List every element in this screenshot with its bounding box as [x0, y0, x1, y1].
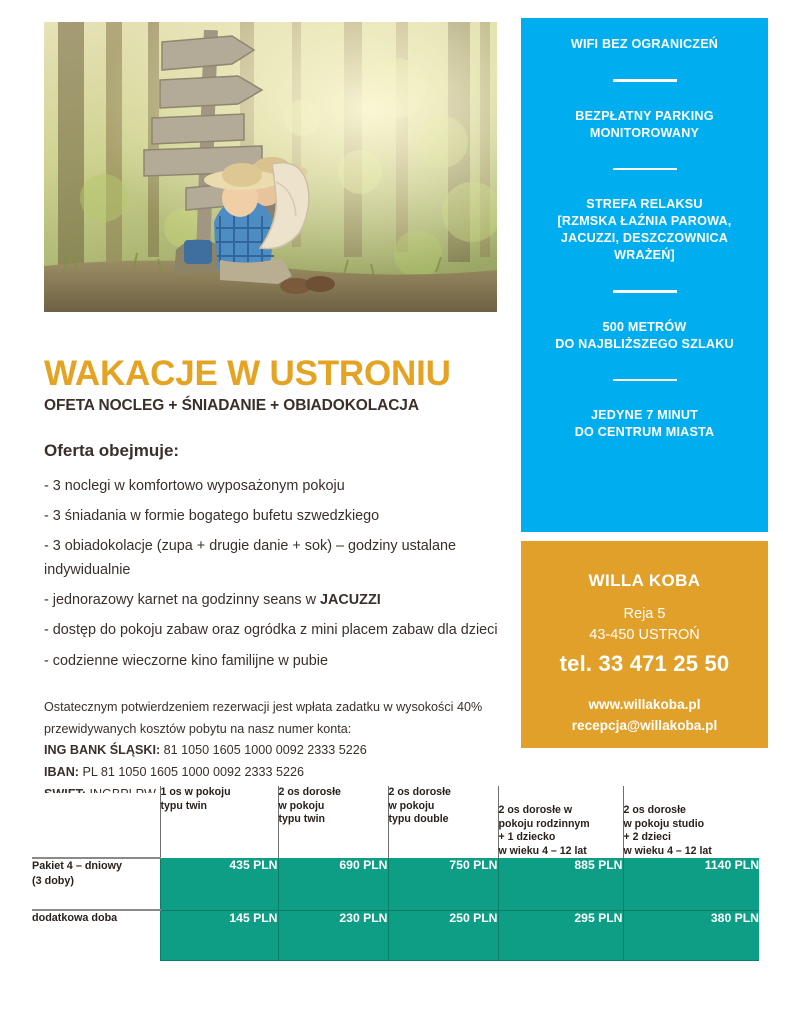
amenity-divider — [613, 79, 677, 82]
includes-heading: Oferta obejmuje: — [44, 441, 514, 461]
price-cell: 380 PLN — [623, 910, 759, 960]
amenity-divider — [613, 290, 677, 293]
column-header-twin-single: 1 os w pokoju typu twin — [160, 786, 278, 858]
page-subtitle: OFETA NOCLEG + ŚNIADANIE + OBIADOKOLACJA — [44, 397, 514, 415]
iban-label: IBAN: — [44, 765, 79, 779]
email-link[interactable]: recepcja@willakoba.pl — [521, 716, 768, 736]
amenity-trail: 500 METRÓW DO NAJBLIŻSZEGO SZLAKU — [531, 319, 758, 353]
bank-label: ING BANK ŚLĄSKI: — [44, 743, 160, 757]
table-row: dodatkowa doba 145 PLN 230 PLN 250 PLN 2… — [32, 910, 759, 960]
payment-line: przewidywanych kosztów pobytu na nasz nu… — [44, 719, 514, 741]
price-cell: 690 PLN — [278, 858, 388, 910]
price-cell: 230 PLN — [278, 910, 388, 960]
column-header-family: 2 os dorosłe w pokoju rodzinnym + 1 dzie… — [498, 786, 623, 858]
payment-details: Ostatecznym potwierdzeniem rezerwacji je… — [44, 697, 514, 793]
price-cell: 750 PLN — [388, 858, 498, 910]
website-link[interactable]: www.willakoba.pl — [521, 695, 768, 715]
price-cell: 250 PLN — [388, 910, 498, 960]
hotel-address: Reja 5 43-450 USTROŃ — [521, 604, 768, 645]
amenity-center: JEDYNE 7 MINUT DO CENTRUM MIASTA — [531, 407, 758, 441]
offer-bullet: - codzienne wieczorne kino familijne w p… — [44, 650, 514, 673]
column-header-double: 2 os dorosłe w pokoju typu double — [388, 786, 498, 858]
amenities-panel: WIFI BEZ OGRANICZEŃ BEZPŁATNY PARKING MO… — [521, 18, 768, 532]
table-corner-cell — [32, 786, 160, 858]
price-cell: 295 PLN — [498, 910, 623, 960]
offer-bullet: - 3 śniadania w formie bogatego bufetu s… — [44, 505, 514, 528]
row-label-extra-night: dodatkowa doba — [32, 910, 160, 960]
page-title: WAKACJE W USTRONIU — [44, 355, 514, 393]
amenity-divider — [613, 379, 677, 382]
forest-children-illustration — [44, 22, 497, 312]
payment-line: Ostatecznym potwierdzeniem rezerwacji je… — [44, 697, 514, 719]
amenity-parking: BEZPŁATNY PARKING MONITOROWANY — [531, 108, 758, 142]
amenity-spa: STREFA RELAKSU [RZMSKA ŁAŹNIA PAROWA, JA… — [531, 196, 758, 264]
hero-photo — [44, 22, 497, 312]
offer-bullet: - dostęp do pokoju zabaw oraz ogródka z … — [44, 619, 514, 642]
jacuzzi-bullet-text: - jednorazowy karnet na godzinny seans w — [44, 592, 320, 608]
contact-panel: WILLA KOBA Reja 5 43-450 USTROŃ tel. 33 … — [521, 541, 768, 748]
offer-bullet: - 3 obiadokolacje (zupa + drugie danie +… — [44, 535, 514, 582]
offer-content: WAKACJE W USTRONIU OFETA NOCLEG + ŚNIADA… — [44, 355, 514, 793]
iban-number: PL 81 1050 1605 1000 0092 2333 5226 — [82, 765, 304, 779]
amenity-wifi: WIFI BEZ OGRANICZEŃ — [531, 36, 758, 53]
amenity-divider — [613, 168, 677, 171]
table-header-row: 1 os w pokoju typu twin 2 os dorosłe w p… — [32, 786, 759, 858]
offer-bullet-jacuzzi: - jednorazowy karnet na godzinny seans w… — [44, 589, 514, 612]
offer-bullet: - 3 noclegi w komfortowo wyposażonym pok… — [44, 475, 514, 498]
address-city: 43-450 USTROŃ — [521, 625, 768, 646]
hotel-name: WILLA KOBA — [521, 571, 768, 591]
jacuzzi-keyword: JACUZZI — [320, 592, 381, 608]
column-header-studio: 2 os dorosłe w pokoju studio + 2 dzieci … — [623, 786, 759, 858]
price-cell: 885 PLN — [498, 858, 623, 910]
bank-account-row: ING BANK ŚLĄSKI: 81 1050 1605 1000 0092 … — [44, 740, 514, 762]
table-row: Pakiet 4 – dniowy (3 doby) 435 PLN 690 P… — [32, 858, 759, 910]
price-cell: 145 PLN — [160, 910, 278, 960]
price-table: 1 os w pokoju typu twin 2 os dorosłe w p… — [32, 786, 759, 961]
phone-number[interactable]: tel. 33 471 25 50 — [521, 651, 768, 677]
address-street: Reja 5 — [521, 604, 768, 625]
column-header-twin-double: 2 os dorosłe w pokoju typu twin — [278, 786, 388, 858]
row-label-package: Pakiet 4 – dniowy (3 doby) — [32, 858, 160, 910]
bank-number: 81 1050 1605 1000 0092 2333 5226 — [164, 743, 367, 757]
price-cell: 1140 PLN — [623, 858, 759, 910]
price-cell: 435 PLN — [160, 858, 278, 910]
contact-links: www.willakoba.pl recepcja@willakoba.pl — [521, 695, 768, 736]
iban-row: IBAN: PL 81 1050 1605 1000 0092 2333 522… — [44, 762, 514, 784]
